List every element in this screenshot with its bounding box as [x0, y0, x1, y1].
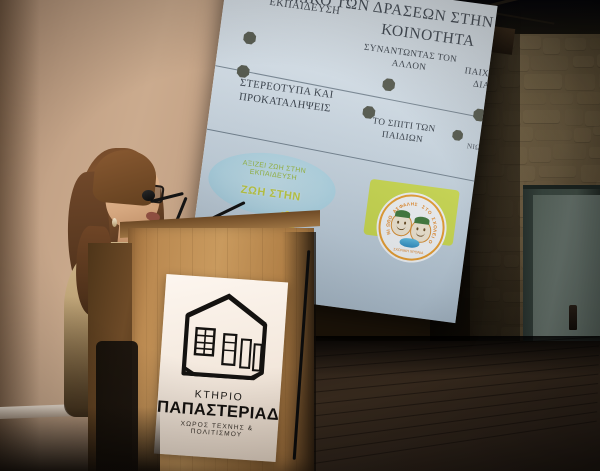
floor-plank [300, 411, 597, 454]
timeline-node [242, 31, 257, 46]
left-wall-shading [0, 0, 40, 471]
floor-shadow [300, 336, 600, 376]
children-faces-icon [388, 210, 434, 249]
venue-sign: ΚΤΗΡΙΟ ΠΑΠΑΣΤΕΡΙΑΔΗ ΧΩΡΟΣ ΤΕΧΝΗΣ & ΠΟΛΙΤ… [154, 274, 288, 462]
logo-circle: ΝΙΩΘΩ ΑΣΦΑΛΗΣ ΣΤΟ ΣΧΟΛΕΙΟ [374, 190, 448, 264]
foreground-shadow [0, 407, 160, 471]
timeline-label: ΣΤΕΡΕΟΤΥΠΑ ΚΑΙ ΠΡΟΚΑΤΑΛΗΨΕΙΣ [216, 74, 355, 120]
house-outline-icon [173, 289, 273, 381]
floor-plank [300, 402, 598, 442]
floor-plank [300, 421, 597, 466]
podium-shadow [282, 232, 316, 471]
timeline-label: ΤΟ ΣΠΙΤΙ ΤΩΝ ΠΑΙΔΙΩΝ [353, 112, 453, 150]
fire-extinguisher-icon [569, 305, 577, 330]
safe-at-school-logo: ΝΙΩΘΩ ΑΣΦΑΛΗΣ ΣΤΟ ΣΧΟΛΕΙΟ [356, 178, 462, 274]
hair-icon [414, 216, 430, 225]
logo-ring-char: Σ [414, 202, 417, 207]
presentation-photo-scene: ...ΙΚΟ ΤΩΝ ΔΡΑΣΕΩΝ ΣΤΗΝ ΣΧΟΛΙΚΗ ΚΟΙΝΟΤΗΤ… [0, 0, 600, 471]
earring-icon [112, 218, 117, 227]
microphone-icon [142, 190, 155, 201]
timeline-node [381, 77, 396, 92]
